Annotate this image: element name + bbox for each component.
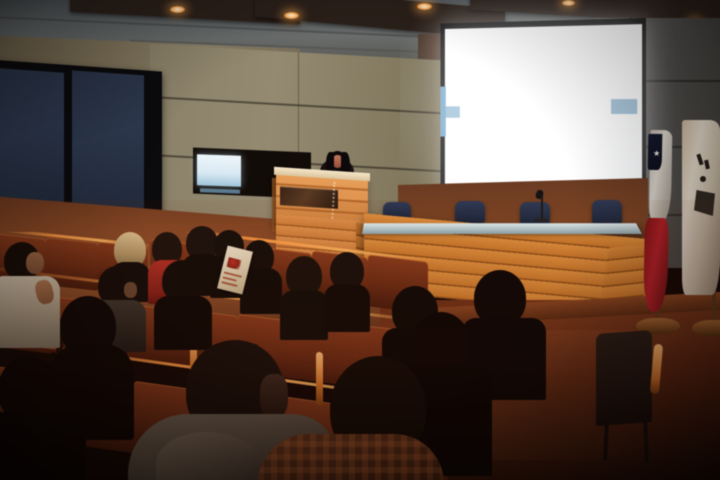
- panel-chair: [455, 201, 485, 223]
- ceiling-spotlight-icon: [170, 6, 185, 13]
- aisle-chair: [596, 330, 652, 426]
- control-room-monitor: [197, 154, 241, 187]
- screen-bar: [445, 106, 460, 117]
- ceiling-spotlight-icon: [562, 0, 575, 6]
- chile-flag-star-icon: ★: [653, 150, 660, 158]
- auditorium-photo: ★: [0, 0, 720, 480]
- table-microphone-base: [534, 218, 548, 222]
- booklet-graphic: [227, 257, 242, 270]
- person-head: [412, 312, 470, 374]
- ceiling-spotlight-icon: [284, 12, 299, 19]
- person-torso: [154, 296, 212, 350]
- chile-flag-blue-canton: ★: [648, 134, 663, 170]
- booklet-text-line: [221, 281, 237, 287]
- podium-slat: [276, 207, 368, 215]
- ceiling-spotlight-icon: [417, 3, 432, 10]
- person-plaid-shirt: [258, 434, 444, 480]
- podium-front-panel: [280, 186, 338, 209]
- flag-lettering: [700, 176, 706, 182]
- chile-flag: ★: [644, 130, 675, 290]
- screen-bar: [441, 86, 446, 136]
- person-face: [26, 252, 44, 274]
- panel-chair: [592, 200, 622, 224]
- screen-bar: [611, 99, 637, 114]
- person-torso: [280, 290, 328, 340]
- person-torso: [0, 412, 86, 480]
- booklet-text-line: [223, 276, 237, 281]
- person-face: [260, 374, 288, 418]
- seat-armrest-lit: [316, 352, 323, 407]
- projection-screen-surface: [445, 24, 642, 202]
- wall-seam: [150, 96, 450, 115]
- person-torso: [324, 284, 370, 332]
- person-face: [124, 282, 137, 298]
